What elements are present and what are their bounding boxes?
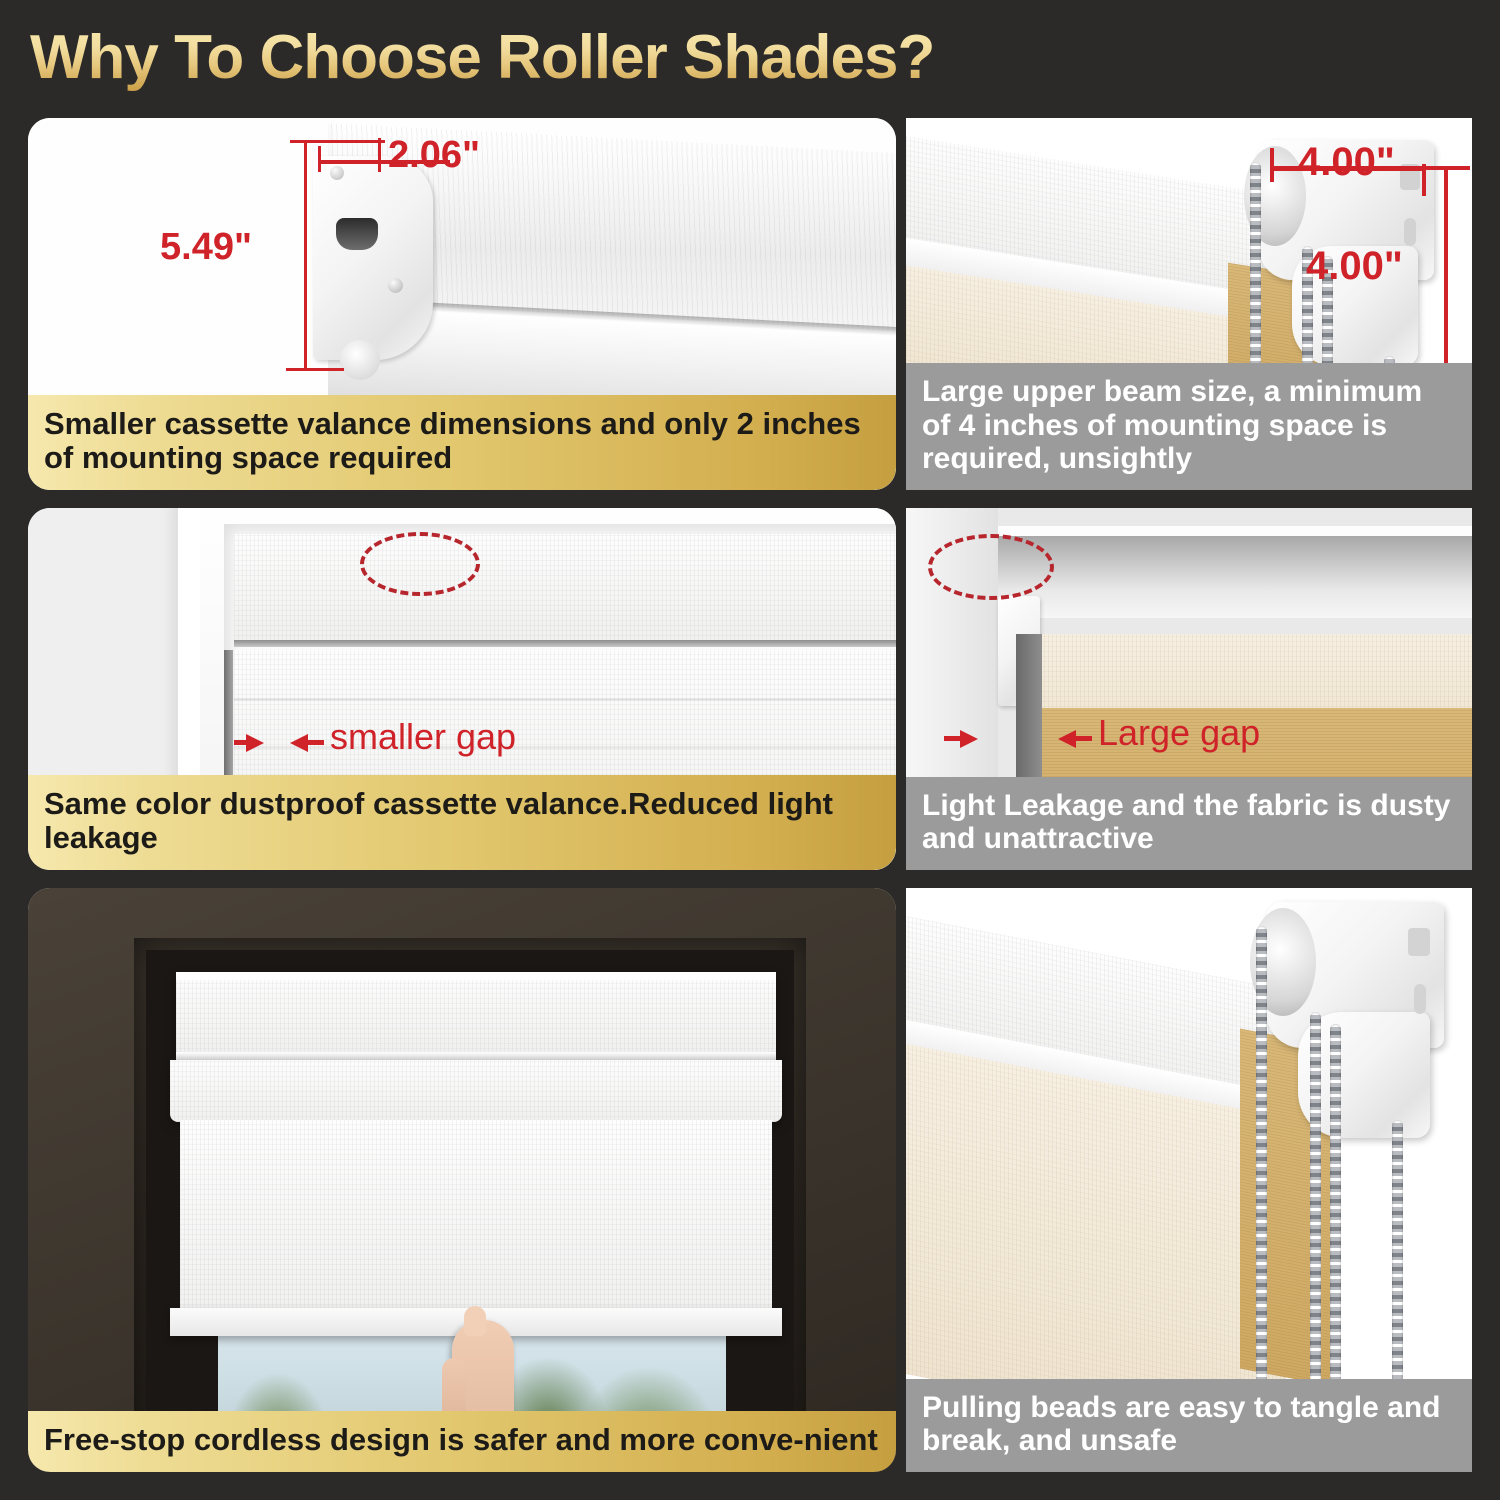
panel-con-upper-beam-size: 4.00" 4.00" Large upper beam size, a min… xyxy=(906,118,1472,490)
end-cap-slot xyxy=(336,218,378,250)
panel-caption: Smaller cassette valance dimensions and … xyxy=(28,395,896,490)
panel-pro-cassette-dimensions: 2.06" 5.49" Smaller cassette valance dim… xyxy=(28,118,896,490)
panel-pro-cordless-design: Free-stop cordless design is safer and m… xyxy=(28,888,896,1472)
panel-con-light-leakage: Large gap Light Leakage and the fabric i… xyxy=(906,508,1472,870)
cassette-valance xyxy=(234,534,896,646)
beam-height-line xyxy=(1444,166,1448,368)
panel-pro-dustproof-valance: smaller gap Same color dustproof cassett… xyxy=(28,508,896,870)
gap-arrow-right-stem xyxy=(306,740,324,745)
height-dimension-tick-top xyxy=(290,140,385,143)
bracket-mount-slot-a xyxy=(1408,928,1430,956)
panel-photo xyxy=(28,888,896,1472)
bracket-mount-slot-b xyxy=(1404,218,1416,246)
valance-lower-band xyxy=(170,1060,782,1122)
hand-fingertip xyxy=(464,1306,486,1336)
valance-top-highlight xyxy=(176,972,776,980)
cassette-valance xyxy=(176,972,776,1054)
beam-height-tick-top xyxy=(1426,166,1470,170)
valance-end-cap xyxy=(313,156,433,360)
headrail-highlight xyxy=(998,526,1472,536)
gap-arrow-left-stem xyxy=(234,740,250,745)
gap-arrow-right-stem xyxy=(1074,736,1092,741)
infographic-root: Why To Choose Roller Shades? 2.06" xyxy=(0,0,1500,1500)
panel-caption: Large upper beam size, a minimum of 4 in… xyxy=(906,363,1472,490)
page-title: Why To Choose Roller Shades? xyxy=(30,22,934,93)
bead-chain-1[interactable] xyxy=(1256,926,1267,1396)
beam-width-tick-left xyxy=(1270,148,1274,182)
panel-caption: Pulling beads are easy to tangle and bre… xyxy=(906,1379,1472,1472)
end-cap-screw-top xyxy=(330,166,344,180)
width-dimension-tick-left xyxy=(318,146,321,172)
beam-width-label: 4.00" xyxy=(1298,140,1395,185)
bead-chain-3[interactable] xyxy=(1330,1024,1341,1396)
upper-headrail xyxy=(998,526,1472,618)
bead-chain-4[interactable] xyxy=(1392,1120,1403,1396)
height-dimension-label: 5.49" xyxy=(160,226,252,269)
width-dimension-tick-right xyxy=(378,138,381,172)
gap-highlight-ellipse xyxy=(928,534,1054,600)
bead-chain-2[interactable] xyxy=(1310,1012,1321,1396)
beam-height-label: 4.00" xyxy=(1306,244,1403,289)
panel-caption: Same color dustproof cassette valance.Re… xyxy=(28,775,896,870)
gap-arrow-left-stem xyxy=(944,736,964,741)
bracket-mount-slot-b xyxy=(1414,984,1426,1014)
valance-bottom-edge xyxy=(234,640,896,647)
gap-callout-label: Large gap xyxy=(1098,712,1260,754)
shade-fabric xyxy=(180,1120,772,1320)
height-dimension-line xyxy=(304,140,307,370)
end-cap-screw-mid xyxy=(388,278,403,293)
panel-caption: Free-stop cordless design is safer and m… xyxy=(28,1411,896,1472)
panel-con-pulling-beads: Pulling beads are easy to tangle and bre… xyxy=(906,888,1472,1472)
fabric-band-1 xyxy=(234,698,896,701)
width-dimension-label: 2.06" xyxy=(388,134,480,177)
height-dimension-tick-bottom xyxy=(286,368,344,371)
gap-highlight-ellipse xyxy=(360,532,480,596)
panel-caption: Light Leakage and the fabric is dusty an… xyxy=(906,777,1472,870)
gap-callout-label: smaller gap xyxy=(330,716,516,758)
end-cap-roller-wheel xyxy=(340,340,380,380)
